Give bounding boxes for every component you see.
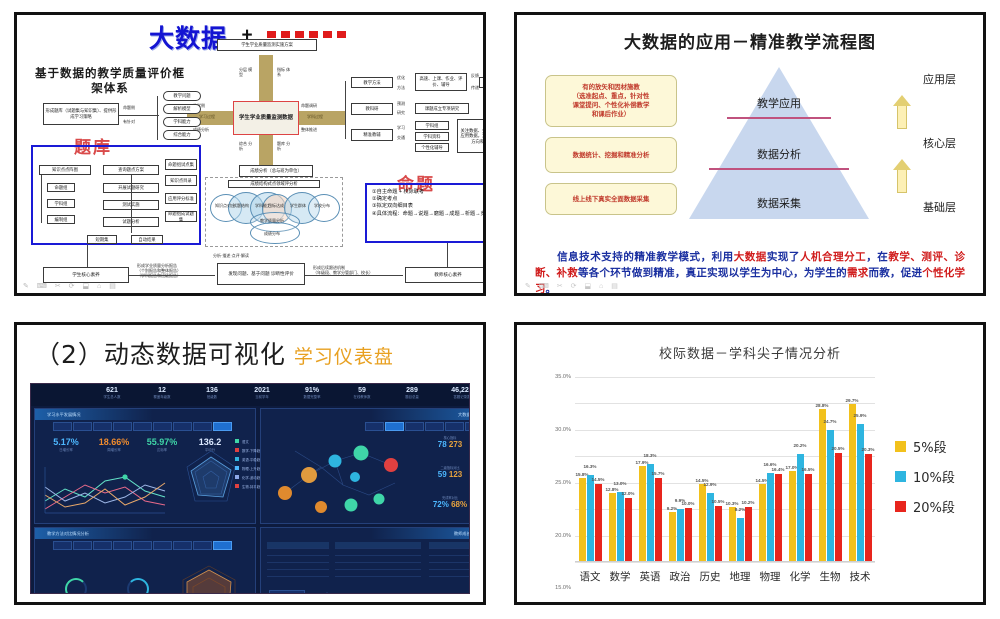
yellow-box-collection: 线上线下真实全面数据采集 <box>545 183 677 215</box>
connector-bottom-right <box>305 275 403 276</box>
big-data-title: 大数据 <box>149 19 227 55</box>
panel2-metric-2: 完成率对比72% 68% <box>421 495 470 509</box>
filter-chip-2[interactable] <box>93 541 112 550</box>
slide-pyramid-flow[interactable]: 大数据的应用－精准教学流程图 有的放矢和因材施教 （选准起点、重点，针对性 课堂… <box>514 12 986 296</box>
metric-label: 周增长率 <box>91 447 137 452</box>
legend-item-10%段[interactable]: 10%段 <box>895 467 955 486</box>
bar-历史-5%段: 14.5% <box>699 484 706 561</box>
dashboard-panel-4[interactable]: 教师成长轨迹 <box>260 527 470 594</box>
note-left-result-2: 有针对 <box>123 119 135 124</box>
panel-metric-0: 5.17%日增长率 <box>43 437 89 452</box>
chart-x-labels: 语文数学英语政治历史地理物理化学生物技术 <box>575 569 875 584</box>
node-teacher-literacy: 教师核心素养 <box>405 267 486 283</box>
dashboard-kpi-1: 12覆盖年级数 <box>139 387 185 399</box>
metric-b: 123 <box>449 470 462 479</box>
filter-chip-5[interactable] <box>153 541 172 550</box>
kpi-value: 59 <box>339 387 385 394</box>
bar-地理-10%段: 8.2% <box>737 518 744 561</box>
panel4-table-1 <box>335 542 421 577</box>
up-arrow-icon-1 <box>893 95 911 129</box>
kpi-value: 621 <box>89 387 135 394</box>
tiku-group-box: 知识点点阵图 查询题点方案 开展试题研究 测试实施 试题分析 命题组 学科组 编… <box>31 145 201 245</box>
legend-item-5%段[interactable]: 5%段 <box>895 437 955 456</box>
pyramid-label-teaching: 教学应用 <box>689 95 869 111</box>
node-right-teacher-group: 教研组活动 <box>479 77 486 88</box>
filter-chip-3[interactable] <box>425 422 444 431</box>
kpi-label: 答题记录数 <box>439 394 470 399</box>
filter-chip-1[interactable] <box>73 541 92 550</box>
chart-title: 校际数据－学科尖子情况分析 <box>517 343 983 362</box>
dashboard-canvas[interactable]: 621学生总人数12覆盖年级数136班级数2021当前学年91%数据完整率59在… <box>30 383 470 594</box>
kpi-value: 46,224 <box>439 387 470 394</box>
bar-数学-10%段: 13.0% <box>617 492 624 561</box>
arrow-label-up-left: 分层 模型 <box>239 67 255 77</box>
connector-bottom-down-right <box>447 243 448 267</box>
note-right-2b: 研究 <box>397 110 405 115</box>
bar-value-label: 10.3% <box>725 501 738 506</box>
bar-group-地理: 10.3%8.2%10.2% <box>725 377 755 561</box>
x-label-政治: 政治 <box>665 569 695 584</box>
kpi-label: 覆盖年级数 <box>139 394 185 399</box>
table-row <box>335 556 421 563</box>
table-row <box>429 563 470 570</box>
mingti-list: ①自主命题 + 校际联考 ②确定考点 ③拟定双向细目表 ④具体流程：命题→说题→… <box>372 189 486 218</box>
bar-语文-20%段: 14.5% <box>595 484 602 561</box>
legend-swatch <box>235 448 239 452</box>
bar-技术-20%段: 20.3% <box>865 454 872 561</box>
bar-value-label: 15.7% <box>651 471 664 476</box>
table-row <box>429 556 470 563</box>
node-tiku-sub-0: 命题组 <box>47 183 75 192</box>
filter-chip-7[interactable] <box>193 541 212 550</box>
connector-tiku-main <box>131 175 132 233</box>
metric-a: 72% <box>433 500 449 509</box>
bar-value-label: 20.3% <box>861 447 874 452</box>
note-right-3a: 学习 <box>397 125 405 130</box>
pyramid-label-collection: 数据采集 <box>689 195 869 211</box>
node-left-chain-1: 解析模型 <box>163 104 201 114</box>
table-row <box>335 570 421 577</box>
paragraph-fragment-8: 而教，促进 <box>868 267 922 279</box>
bar-value-label: 12.9% <box>703 482 716 487</box>
filter-chip-4[interactable] <box>133 541 152 550</box>
node-right-research: 教科研 <box>351 103 393 115</box>
table-row <box>267 570 329 577</box>
venn-label-7: 成绩分布 <box>264 231 280 236</box>
paragraph-fragment-6: 等各个环节做到精准，真正实现以学生为中心，为学生的 <box>578 267 847 279</box>
dashboard-kpi-5: 59在线教师数 <box>339 387 385 399</box>
panel4-button-0[interactable] <box>269 590 305 594</box>
panel-4-header: 教师成长轨迹 <box>371 528 470 539</box>
slide-cell-1: 大数据 + 基于数据的教学质量评价框架体系 学生学业质量监测实施方案 学生学业质… <box>0 0 500 310</box>
legend-label: 5%段 <box>913 437 947 456</box>
bar-value-label: 20.2% <box>793 443 806 448</box>
bar-地理-5%段: 10.3% <box>729 507 736 561</box>
note-right-1b: 方法 <box>397 85 405 90</box>
table-row <box>267 563 329 570</box>
table-row <box>335 563 421 570</box>
panel2-metric-1: 二级指标对比59 123 <box>421 465 470 479</box>
table-row <box>335 549 421 556</box>
gridline-0: 0.0% <box>575 562 875 563</box>
filter-chip-0[interactable] <box>53 422 72 431</box>
filter-chip-5[interactable] <box>465 422 470 431</box>
metric-a: 78 <box>438 440 447 449</box>
filter-chip-6[interactable] <box>173 422 192 431</box>
dashboard-slide-title: （2）动态数据可视化学习仪表盘 <box>35 335 483 371</box>
bar-数学-20%段: 12.0% <box>625 498 632 561</box>
x-label-语文: 语文 <box>575 569 605 584</box>
bar-英语-5%段: 17.9% <box>639 466 646 561</box>
filter-chip-2[interactable] <box>405 422 424 431</box>
kpi-label: 学生总人数 <box>89 394 135 399</box>
yellow-box-analysis: 数据统计、挖掘和精准分析 <box>545 137 677 173</box>
node-venn-top-1: 成绩分析（总与班为单位） <box>239 165 313 177</box>
legend-swatch <box>235 439 239 443</box>
filter-chip-2[interactable] <box>93 422 112 431</box>
legend-label: 20%段 <box>913 497 955 516</box>
legend-swatch <box>235 484 239 488</box>
panel-metric-1: 18.66%周增长率 <box>91 437 137 452</box>
arrow-label-down-left: 综合 分析 <box>239 141 255 151</box>
dashboard-kpi-3: 2021当前学年 <box>239 387 285 399</box>
kpi-label: 题目总量 <box>389 394 435 399</box>
bar-group-物理: 14.5%16.6%16.4% <box>755 377 785 561</box>
pyramid-separator-2 <box>709 168 849 170</box>
filter-chip-3[interactable] <box>113 541 132 550</box>
bar-化学-20%段: 16.5% <box>805 474 812 561</box>
table-row <box>429 549 470 556</box>
filter-chip-4[interactable] <box>445 422 464 431</box>
paragraph-fragment-2: 实现了 <box>767 251 800 263</box>
up-arrow-icon-2 <box>893 159 911 193</box>
metric-pair: 59 123 <box>421 470 470 479</box>
y-tick-label-3: 15.0% <box>555 585 571 591</box>
legend-swatch <box>235 466 239 470</box>
mingti-group-box: ①自主命题 + 校际联考 ②确定考点 ③拟定双向细目表 ④具体流程：命题→说题→… <box>365 183 486 243</box>
filter-chip-5[interactable] <box>153 422 172 431</box>
note-bottom-mid-top: 分析·描述·点评·解读 <box>213 253 249 258</box>
bar-value-label: 13.0% <box>613 481 626 486</box>
table-row <box>429 570 470 577</box>
bar-历史-20%段: 10.5% <box>715 506 722 562</box>
table-row <box>429 542 470 549</box>
slide-cell-2: 大数据的应用－精准教学流程图 有的放矢和因材施教 （选准起点、重点，针对性 课堂… <box>500 0 1000 310</box>
panel4-table-2 <box>429 542 470 577</box>
node-right-sub-0: 学科组 <box>415 121 449 130</box>
bar-group-历史: 14.5%12.9%10.5% <box>695 377 725 561</box>
node-tiku-1: 查询题点方案 <box>103 165 159 175</box>
table-row <box>267 556 329 563</box>
kpi-value: 91% <box>289 387 335 394</box>
bar-value-label: 10.0% <box>681 501 694 506</box>
bar-group-政治: 9.2%9.9%10.0% <box>665 377 695 561</box>
node-tiku-sub-1: 学科组 <box>47 199 75 208</box>
node-top-plan: 学生学业质量监测实施方案 <box>217 39 317 51</box>
kpi-label: 当前学年 <box>239 394 285 399</box>
venn-label-0: 知识点对应 <box>215 203 235 208</box>
metric-label: 日增长率 <box>43 447 89 452</box>
legend-label: 10%段 <box>913 467 955 486</box>
bar-value-label: 28.8% <box>815 403 828 408</box>
arrow-label-right-bottom: 整体推进 <box>301 127 317 132</box>
bar-物理-5%段: 14.5% <box>759 484 766 561</box>
bar-物理-20%段: 16.4% <box>775 474 782 561</box>
note-bottom-mid: 形成后续跟进机制 （年级段、教学分管部门、校长） <box>313 265 397 275</box>
venn-label-4: 学生群体 <box>290 203 306 208</box>
panel-1-line-chart <box>43 467 167 517</box>
connector-tiku-vert <box>41 175 42 223</box>
bar-英语-20%段: 15.7% <box>655 478 662 561</box>
dashboard-kpi-6: 289题目总量 <box>389 387 435 399</box>
slide-grid: 大数据 + 基于数据的教学质量评价框架体系 学生学业质量监测实施方案 学生学业质… <box>0 0 1000 619</box>
bar-语文-10%段: 16.3% <box>587 475 594 561</box>
chart-plot-area: 0.0%5.0%10.0%15.0%20.0%25.0%30.0%35.0% 1… <box>575 377 875 562</box>
dashboard-title-text: （2）动态数据可视化 <box>35 340 286 369</box>
metric-value: 5.17% <box>43 437 89 447</box>
note-right-2a: 预测 <box>397 101 405 106</box>
venn-label-3: 目标达成 <box>268 203 284 208</box>
kpi-label: 在线教师数 <box>339 394 385 399</box>
pyramid-graphic: 教学应用 数据分析 数据采集 <box>689 67 869 219</box>
bar-英语-10%段: 18.3% <box>647 464 654 561</box>
x-label-生物: 生物 <box>815 569 845 584</box>
filter-chip-4[interactable] <box>133 422 152 431</box>
slide1-footer-icons: ✎ ⌨ ✂ ⟳ ⬓ ⌂ ▤ <box>23 282 119 290</box>
bar-生物-20%段: 20.5% <box>835 453 842 561</box>
pyramid-label-analysis: 数据分析 <box>689 146 869 162</box>
x-label-英语: 英语 <box>635 569 665 584</box>
slide-framework-diagram[interactable]: 大数据 + 基于数据的教学质量评价框架体系 学生学业质量监测实施方案 学生学业质… <box>14 12 486 296</box>
venn-area: 成绩结构式点领域评分析 知识点对应 试题结构 学科能力 目标达成 学生群体 学校… <box>205 177 343 247</box>
bar-value-label: 10.5% <box>711 499 724 504</box>
dashboard-panel-1[interactable]: 学习水平发展情况 5.17%日增长率18.66%周增长率55.97%达标率136… <box>34 408 256 524</box>
bar-group-英语: 17.9%18.3%15.7% <box>635 377 665 561</box>
bar-value-label: 29.7% <box>845 398 858 403</box>
bar-value-label: 20.5% <box>831 446 844 451</box>
y-tick-label-6: 30.0% <box>555 427 571 433</box>
panel4-table-0 <box>267 542 329 577</box>
metric-b: 273 <box>449 440 462 449</box>
panel-3-header: 教学方法对比情况分析 <box>35 528 153 539</box>
node-right-note: 关注数据、分析数据、应用数据，为教学提供方向和方法 <box>457 119 486 153</box>
dashboard-panel-2[interactable]: 大数据分析 <box>260 408 470 524</box>
node-right-method: 教学方法 <box>351 77 393 88</box>
bar-政治-10%段: 9.9% <box>677 509 684 561</box>
node-tiku-2: 命题组试点集 <box>165 159 197 170</box>
node-left-chain-3: 综合能力 <box>163 130 201 140</box>
connector-bottom-left <box>129 275 215 276</box>
framework-subtitle: 基于数据的教学质量评价框架体系 <box>35 67 185 97</box>
mingti-item-2: ③拟定双向细目表 <box>372 203 486 210</box>
bar-group-技术: 29.7%25.9%20.3% <box>845 377 875 561</box>
note-left-result-1: 命题侧 <box>123 105 135 110</box>
node-right-precision: 精准教辅 <box>351 129 393 141</box>
bar-化学-5%段: 17.0% <box>789 471 796 561</box>
bar-value-label: 24.7% <box>823 419 836 424</box>
bar-技术-5%段: 29.7% <box>849 404 856 561</box>
table-row <box>267 549 329 556</box>
y-tick-label-5: 25.0% <box>555 480 571 486</box>
arrow-label-left: 学习过程 <box>199 114 215 119</box>
bar-value-label: 16.5% <box>801 467 814 472</box>
bar-group-生物: 28.8%24.7%20.5% <box>815 377 845 561</box>
slide2-footer-icons: ✎ ⌨ ✂ ⟳ ⬓ ⌂ ▤ <box>525 282 621 290</box>
bar-value-label: 16.4% <box>771 467 784 472</box>
arrow-up <box>259 55 273 103</box>
paragraph-fragment-3: 人机合理分工 <box>800 251 866 263</box>
chart-legend[interactable]: 5%段10%段20%段 <box>895 437 955 527</box>
kpi-label: 数据完整率 <box>289 394 335 399</box>
layer-labels: 应用层 核心层 基础层 <box>879 67 986 227</box>
y-tick-label-4: 20.0% <box>555 533 571 539</box>
kpi-value: 2021 <box>239 387 285 394</box>
note-right-1e: 传递 <box>471 85 479 90</box>
connector-right-trunk <box>345 81 346 139</box>
node-tiku-12: 自动结果 <box>131 235 163 244</box>
venn-label-5: 学校分布 <box>314 203 330 208</box>
paragraph-fragment-4: ，在 <box>866 251 888 263</box>
note-right-3b: 交通 <box>397 135 405 140</box>
node-tiku-4: 应用评分标准 <box>165 193 197 204</box>
table-row <box>267 542 329 549</box>
chart-x-axis <box>575 561 875 562</box>
metric-pair: 78 273 <box>421 440 470 449</box>
bar-value-label: 18.3% <box>643 453 656 458</box>
slide-cell-3: （2）动态数据可视化学习仪表盘 621学生总人数12覆盖年级数136班级数202… <box>0 310 500 619</box>
dashboard-kpi-7: 46,224答题记录数 <box>439 387 470 399</box>
dashboard-legend-item-0[interactable]: 语文 <box>235 439 249 444</box>
x-label-技术: 技术 <box>845 569 875 584</box>
kpi-value: 289 <box>389 387 435 394</box>
legend-swatch <box>895 471 906 482</box>
kpi-value: 136 <box>189 387 235 394</box>
yellow-box-application: 有的放矢和因材施教 （选准起点、重点，针对性 课堂提问、个性化补偿教学 和课后作… <box>545 75 677 127</box>
filter-chip-3[interactable] <box>113 422 132 431</box>
node-left-result: 形成题库（试题集与知识集）、提供形成学习策略 <box>43 103 119 125</box>
center-node-monitoring-data: 学生学业质量监测数据 <box>233 101 299 135</box>
bar-物理-10%段: 16.6% <box>767 473 774 561</box>
dashboard-title-accent: 学习仪表盘 <box>294 346 394 368</box>
bar-group-数学: 12.8%13.0%12.0% <box>605 377 635 561</box>
filter-chip-1[interactable] <box>73 422 92 431</box>
paragraph-fragment-0: 信息技术支持的精准教学模式，利用 <box>535 251 734 263</box>
legend-swatch <box>895 441 906 452</box>
venn-label-6: 教学质量分析 <box>260 218 284 223</box>
legend-swatch <box>235 475 239 479</box>
panel-1-radar-chart <box>173 443 249 522</box>
filter-chip-8[interactable] <box>213 541 232 550</box>
node-diagnostic: 发现问题、基于问题 诊断性评价 <box>217 263 305 285</box>
filter-chip-1[interactable] <box>385 422 404 431</box>
x-label-数学: 数学 <box>605 569 635 584</box>
slide-bar-chart[interactable]: 校际数据－学科尖子情况分析 0.0%5.0%10.0%15.0%20.0%25.… <box>514 322 986 605</box>
layer-label-core: 核心层 <box>923 135 956 151</box>
node-right-detail: 高速、上课、作业、评价、辅导 <box>415 73 467 91</box>
bar-group-语文: 15.8%16.3%14.5% <box>575 377 605 561</box>
paragraph-fragment-1: 大数据 <box>734 251 767 263</box>
bar-value-label: 14.5% <box>591 477 604 482</box>
metric-value: 18.66% <box>91 437 137 447</box>
bar-语文-5%段: 15.8% <box>579 478 586 562</box>
metric-pair: 72% 68% <box>421 500 470 509</box>
metric-a: 59 <box>438 470 447 479</box>
legend-swatch <box>235 457 239 461</box>
chart-bars: 15.8%16.3%14.5%12.8%13.0%12.0%17.9%18.3%… <box>575 377 875 561</box>
filter-chip-8[interactable] <box>213 422 232 431</box>
slide-dashboard[interactable]: （2）动态数据可视化学习仪表盘 621学生总人数12覆盖年级数136班级数202… <box>14 322 486 605</box>
filter-chip-0[interactable] <box>53 541 72 550</box>
panel2-metric-0: 核心指标78 273 <box>421 435 470 449</box>
paragraph-fragment-7: 需求 <box>847 267 869 279</box>
arrow-label-right-top: 命题调研 <box>301 103 317 108</box>
gauge-icon-2 <box>127 578 149 594</box>
dashboard-panel-3[interactable]: 教学方法对比情况分析 <box>34 527 256 594</box>
panel-2-header: 大数据分析 <box>371 409 470 420</box>
node-right-sub-2: 个性化辅导 <box>415 143 449 152</box>
kpi-label: 班级数 <box>189 394 235 399</box>
node-tiku-3: 知识点目录 <box>165 175 197 186</box>
panel-1-header: 学习水平发展情况 <box>35 409 153 420</box>
node-tiku-5: 命题组成试题集 <box>165 211 197 222</box>
x-label-化学: 化学 <box>785 569 815 584</box>
filter-chip-7[interactable] <box>193 422 212 431</box>
bar-group-化学: 17.0%20.2%16.5% <box>785 377 815 561</box>
kpi-value: 12 <box>139 387 185 394</box>
bar-地理-20%段: 10.2% <box>745 507 752 561</box>
legend-label: 语文 <box>242 440 249 444</box>
bar-数学-5%段: 12.8% <box>609 493 616 561</box>
node-tiku-sub-2: 编制组 <box>47 215 75 224</box>
layer-label-foundation: 基础层 <box>923 199 956 215</box>
arrow-label-up-right: 指标 体系 <box>277 67 293 77</box>
node-right-project: 课题成立专项研究 <box>415 103 469 114</box>
bar-政治-20%段: 10.0% <box>685 508 692 561</box>
connector-bottom-down-left <box>87 245 88 267</box>
table-row <box>335 542 421 549</box>
dashboard-kpi-4: 91%数据完整率 <box>289 387 335 399</box>
bar-value-label: 10.2% <box>741 500 754 505</box>
bar-生物-5%段: 28.8% <box>819 409 826 561</box>
node-left-chain-2: 学科能力 <box>163 117 201 127</box>
slide-cell-4: 校际数据－学科尖子情况分析 0.0%5.0%10.0%15.0%20.0%25.… <box>500 310 1000 619</box>
dashboard-kpi-2: 136班级数 <box>189 387 235 399</box>
x-label-历史: 历史 <box>695 569 725 584</box>
filter-chip-6[interactable] <box>173 541 192 550</box>
note-right-1d: 反馈 <box>471 73 479 78</box>
legend-swatch <box>895 501 906 512</box>
bar-value-label: 12.0% <box>621 491 634 496</box>
metric-b: 68% <box>451 500 467 509</box>
bar-技术-10%段: 25.9% <box>857 424 864 561</box>
bar-政治-5%段: 9.2% <box>669 512 676 561</box>
connector-left-to-result <box>117 115 159 116</box>
y-tick-label-7: 35.0% <box>555 374 571 380</box>
node-venn-top-2: 成绩结构式点领域评分析 <box>228 180 320 188</box>
mingti-item-3: ④具体流程：命题→说题→磨题→成题→析题→览题 <box>372 211 486 218</box>
legend-item-20%段[interactable]: 20%段 <box>895 497 955 516</box>
x-label-物理: 物理 <box>755 569 785 584</box>
venn-ellipse-5 <box>308 194 340 222</box>
node-tiku-11: 短期集 <box>87 235 117 244</box>
bar-value-label: 25.9% <box>853 413 866 418</box>
layer-label-application: 应用层 <box>923 71 956 87</box>
connector-left-chain <box>157 96 158 140</box>
pyramid-slide-title: 大数据的应用－精准教学流程图 <box>527 28 973 53</box>
node-tiku-0: 知识点点阵图 <box>39 165 91 175</box>
dashboard-kpi-0: 621学生总人数 <box>89 387 135 399</box>
filter-chip-0[interactable] <box>365 422 384 431</box>
